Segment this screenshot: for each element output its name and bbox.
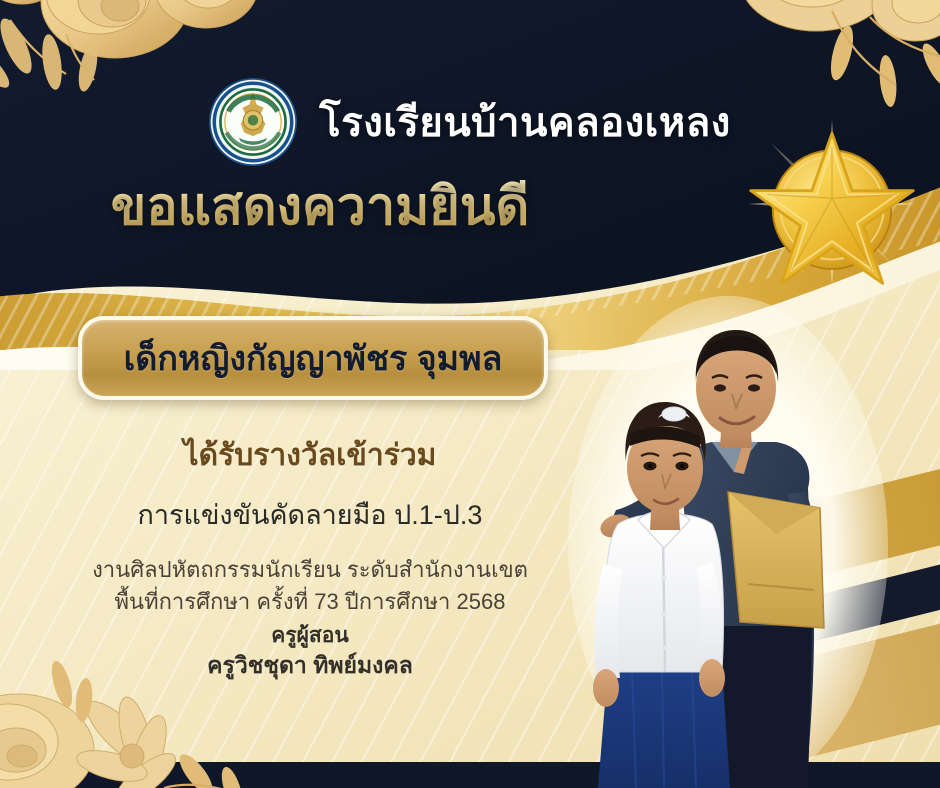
award-details: ได้รับรางวัลเข้าร่วม การแข่งขันคัดลายมือ…: [0, 432, 620, 618]
certificate-canvas: โรงเรียนบ้านคลองเหลง ขอแสดงความยินดี: [0, 0, 940, 788]
award-event-line-2: พื้นที่การศึกษา ครั้งที่ 73 ปีการศึกษา 2…: [0, 586, 620, 618]
congratulations-heading: ขอแสดงความยินดี: [0, 180, 640, 235]
award-result: ได้รับรางวัลเข้าร่วม: [0, 432, 620, 479]
recipient-name-banner: เด็กหญิงกัญญาพัชร จุมพล: [78, 316, 548, 400]
teacher-label: ครูผู้สอน: [0, 622, 620, 650]
school-emblem-icon: [209, 78, 297, 166]
school-name: โรงเรียนบ้านคลองเหลง: [319, 90, 731, 154]
recipient-name: เด็กหญิงกัญญาพัชร จุมพล: [124, 331, 503, 385]
award-event-line-1: งานศิลปหัตถกรรมนักเรียน ระดับสำนักงานเขต: [0, 554, 620, 586]
photo-envelope: [728, 492, 824, 628]
teacher-name: ครูวิชชุดา ทิพย์มงคล: [0, 650, 620, 681]
gold-star-medal-icon: [746, 118, 918, 290]
teacher-and-student-photo: [562, 296, 894, 788]
teacher-credit: ครูผู้สอน ครูวิชชุดา ทิพย์มงคล: [0, 622, 620, 681]
award-contest: การแข่งขันคัดลายมือ ป.1-ป.3: [0, 493, 620, 536]
